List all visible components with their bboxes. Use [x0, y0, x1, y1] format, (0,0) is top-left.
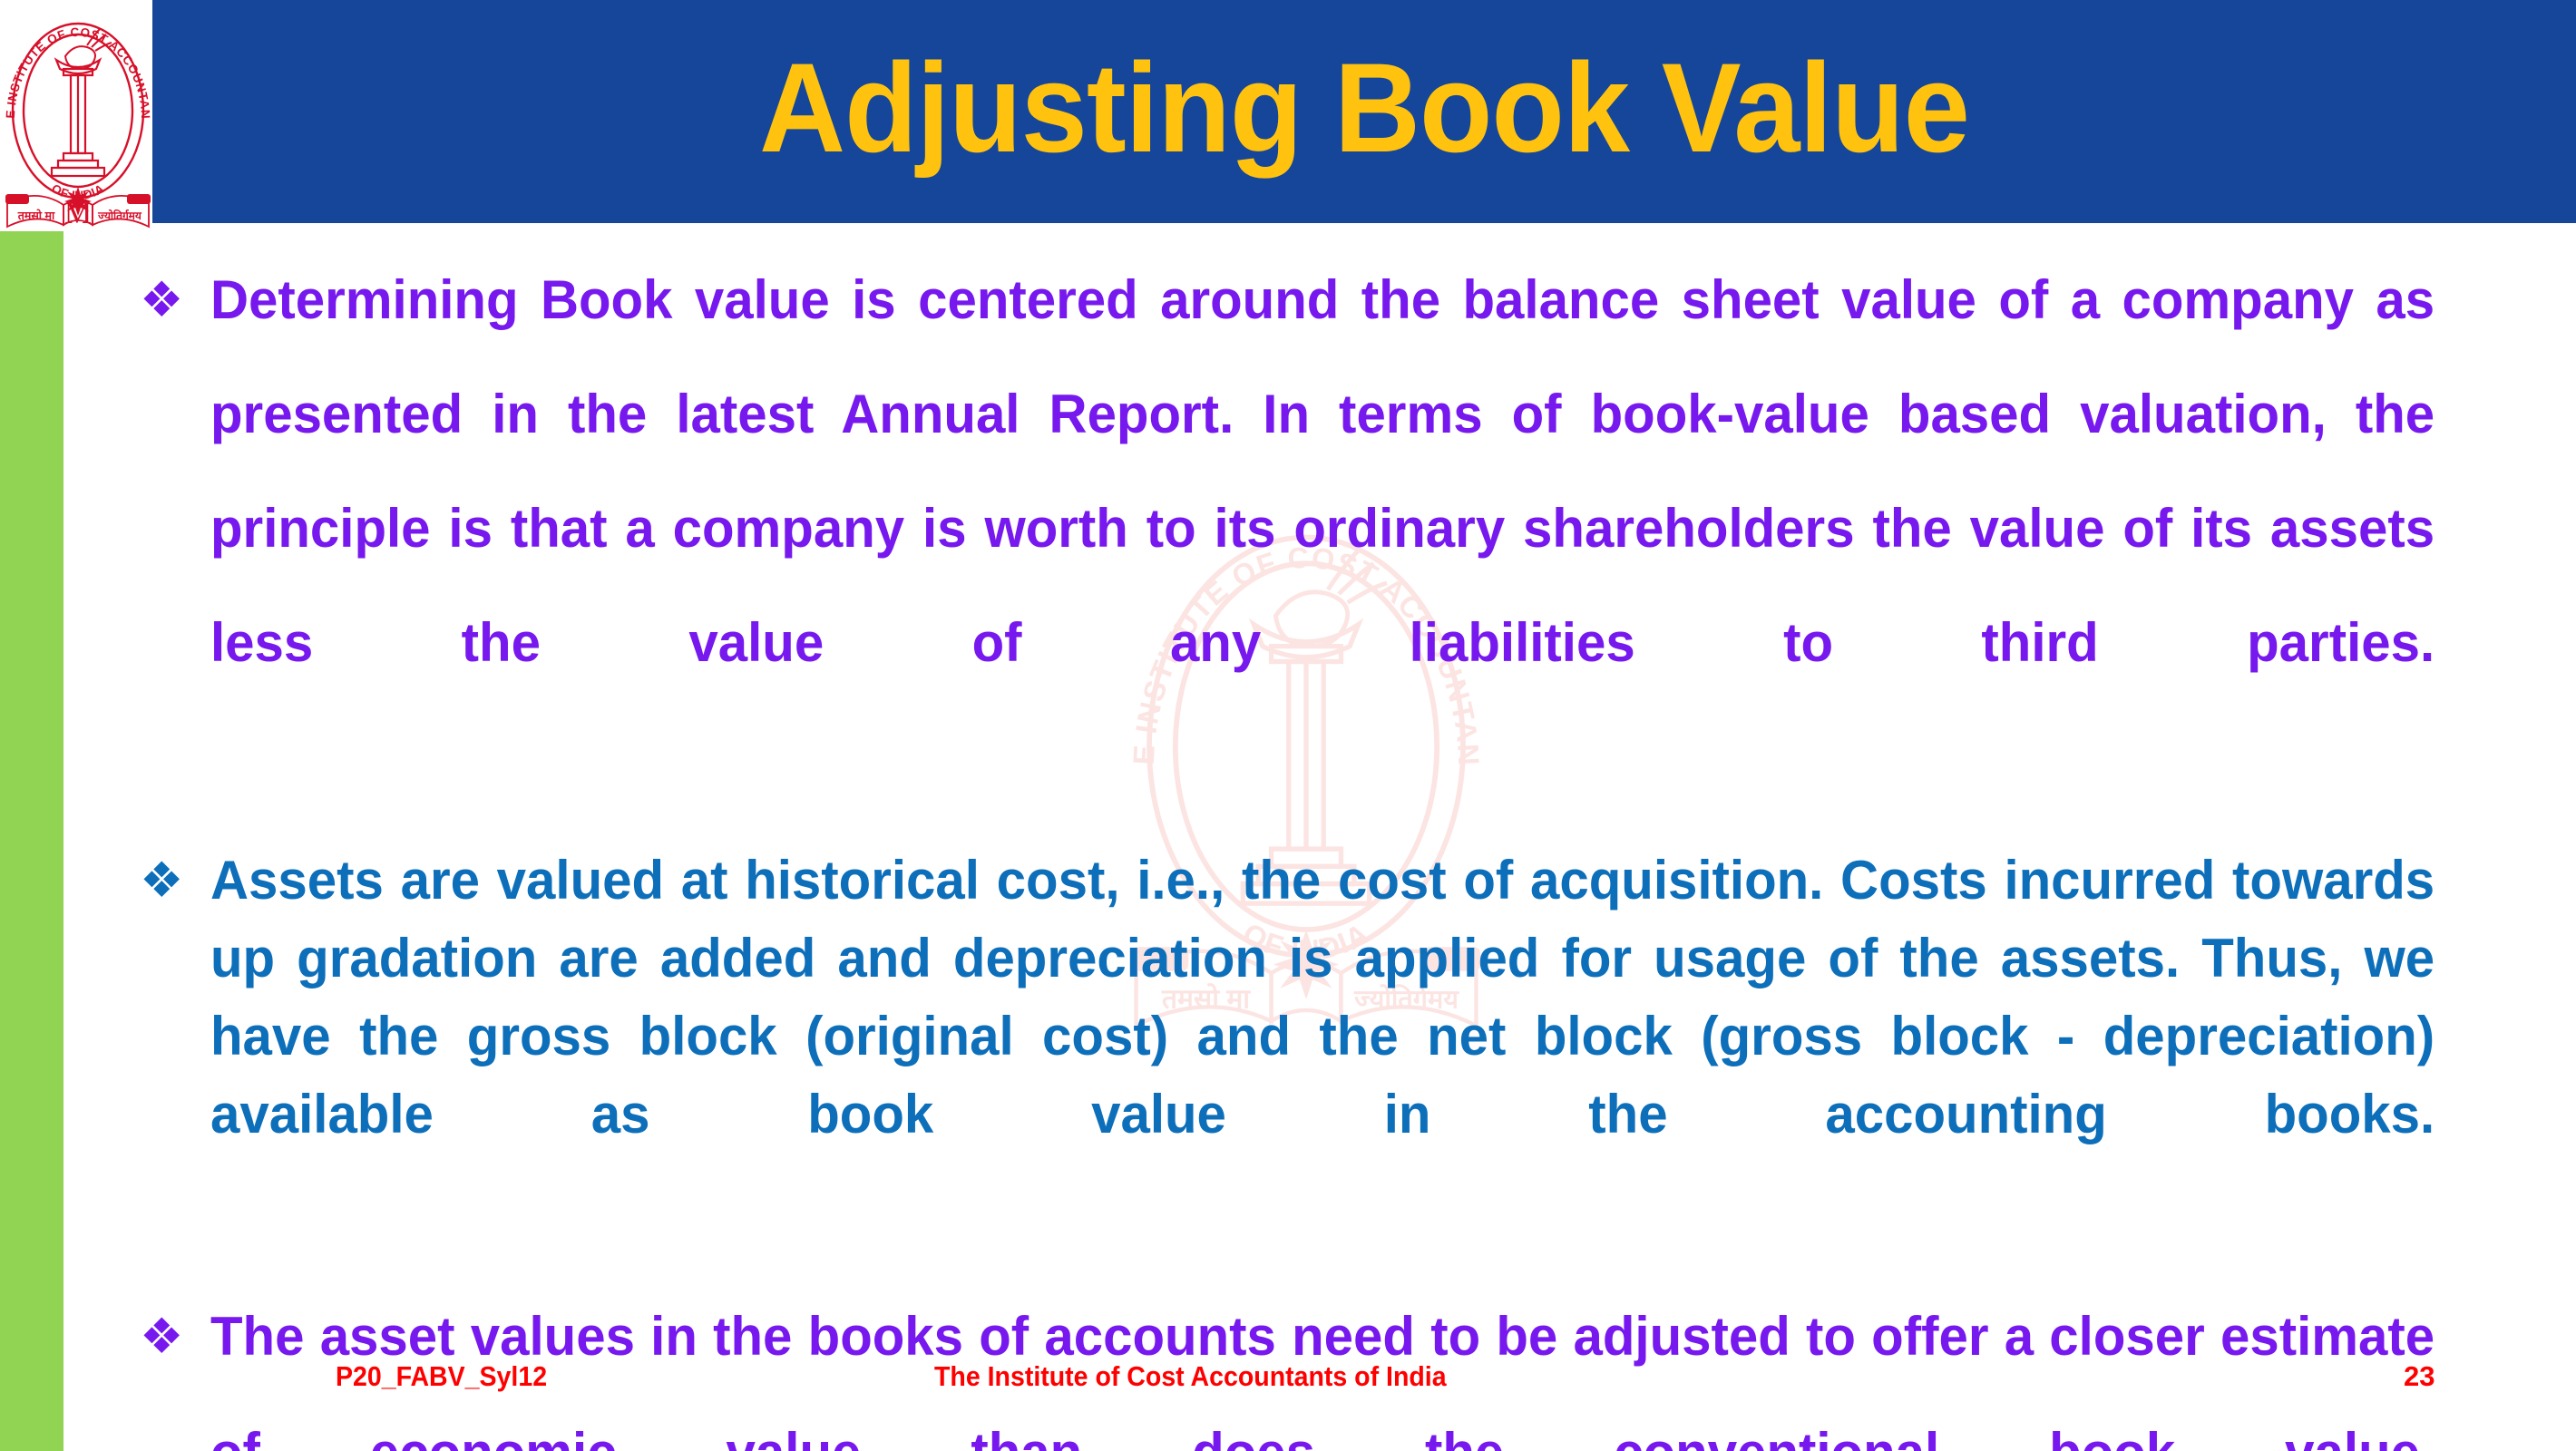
- footer-subject-code: P20_FABV_Syl12: [336, 1358, 547, 1395]
- title-banner: Adjusting Book Value: [152, 0, 2576, 223]
- list-item: ❖ Determining Book value is centered aro…: [127, 243, 2503, 814]
- list-item: ❖ Assets are valued at historical cost, …: [127, 842, 2503, 1232]
- footer-page-number: 23: [2404, 1358, 2435, 1395]
- slide-canvas: Adjusting Book Value THE INSTITUTE OF CO…: [0, 0, 2576, 1451]
- bullet-list: ❖ Determining Book value is centered aro…: [127, 243, 2503, 1451]
- footer-institute-name: The Institute of Cost Accountants of Ind…: [934, 1358, 1447, 1395]
- slide-footer: P20_FABV_Syl12 The Institute of Cost Acc…: [0, 1358, 2576, 1413]
- svg-text:तमसो मा: तमसो मा: [17, 209, 55, 222]
- list-item-text: Determining Book value is centered aroun…: [210, 243, 2435, 814]
- page-title: Adjusting Book Value: [225, 40, 2503, 176]
- list-item-text: Assets are valued at historical cost, i.…: [210, 842, 2435, 1232]
- diamond-bullet-icon: ❖: [127, 842, 210, 920]
- left-accent-bar: [0, 231, 63, 1451]
- diamond-bullet-icon: ❖: [127, 243, 210, 357]
- icai-logo-icon: THE INSTITUTE OF COST ACCOUNTANTS OF IND…: [2, 0, 154, 234]
- svg-text:M: M: [64, 197, 92, 230]
- svg-text:ज्योतिर्गमय: ज्योतिर्गमय: [97, 209, 142, 222]
